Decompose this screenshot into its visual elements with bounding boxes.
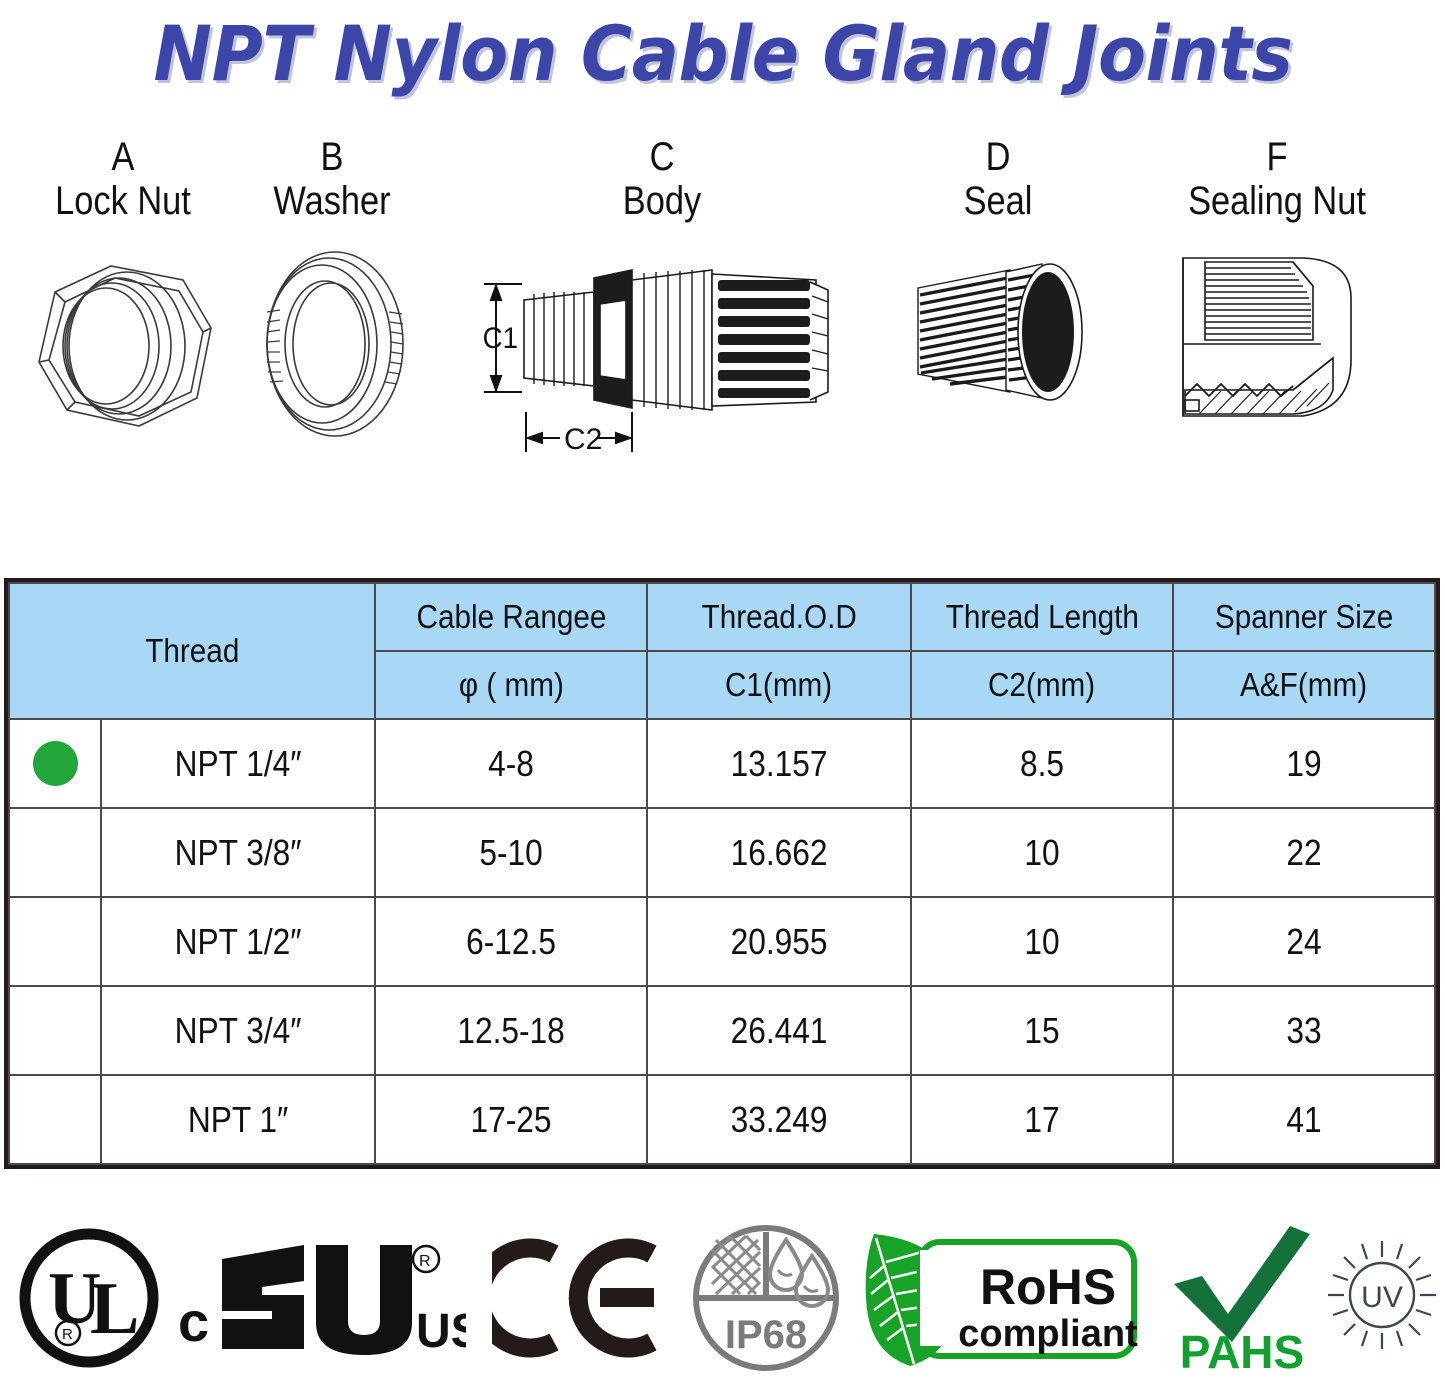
part-letter: F [1135,136,1419,178]
cell-spanner-size: 19 [1173,719,1435,808]
sealing-nut-drawing [1112,240,1442,440]
part-lock-nut: A Lock Nut [8,136,238,450]
cell-spanner-size: 24 [1173,897,1435,986]
column-subheader-phi-mm: φ ( mm) [375,651,647,719]
certification-uv-resistant: UV [1322,1218,1442,1378]
cell-cable-range: 5-10 [375,808,647,897]
cell-thread-length: 15 [911,986,1173,1075]
lock-nut-drawing [8,240,238,450]
svg-text:IP68: IP68 [725,1313,807,1357]
certification-ip68: IP68 [690,1218,842,1378]
svg-text:C1: C1 [483,322,518,355]
cell-thread-od: 33.249 [647,1075,911,1164]
seal-drawing [882,240,1114,440]
cell-spanner-size: 22 [1173,808,1435,897]
cell-thread-od: 20.955 [647,897,911,986]
cell-cable-range: 6-12.5 [375,897,647,986]
cell-thread-length: 10 [911,808,1173,897]
svg-text:UV: UV [1361,1281,1403,1314]
uv-resistant-icon: UV [1322,1233,1442,1363]
table-row[interactable]: NPT 1/2″ 6-12.5 20.955 10 24 [9,897,1435,986]
cell-cable-range: 4-8 [375,719,647,808]
cell-thread: NPT 1/4″ [101,719,375,808]
column-subheader-af-mm: A&F(mm) [1173,651,1435,719]
column-subheader-c1-mm: C1(mm) [647,651,911,719]
part-label: Body [481,178,842,224]
cell-cable-range: 12.5-18 [375,986,647,1075]
table-header-row-top: Thread Cable Rangee Thread.O.D Thread Le… [9,583,1435,651]
pahs-checkmark-icon: PAHS [1168,1222,1316,1374]
column-header-thread: Thread [9,583,375,719]
svg-text:R: R [419,1253,431,1270]
specification-table-container: Thread Cable Rangee Thread.O.D Thread Le… [8,582,1434,1165]
certification-rohs-compliant: RoHS compliant [862,1218,1152,1378]
cell-thread: NPT 1/2″ [101,897,375,986]
cell-spanner-size: 41 [1173,1075,1435,1164]
svg-text:US: US [416,1305,466,1358]
cell-thread: NPT 3/4″ [101,986,375,1075]
table-row[interactable]: NPT 3/8″ 5-10 16.662 10 22 [9,808,1435,897]
part-label: Lock Nut [24,178,222,224]
certification-c-ul-us: c R US [176,1218,466,1378]
column-header-cable-range: Cable Rangee [375,583,647,651]
table-row[interactable]: NPT 3/4″ 12.5-18 26.441 15 33 [9,986,1435,1075]
part-body: C Body C1 [452,136,872,466]
certification-badges: U L R c R US [0,1218,1445,1378]
svg-text:R: R [62,1326,73,1343]
part-seal: D Seal [882,136,1114,440]
part-label: Sealing Nut [1135,178,1419,224]
cell-thread-length: 17 [911,1075,1173,1164]
ul-listed-icon: U L R [14,1223,164,1373]
cell-thread-length: 10 [911,897,1173,986]
column-header-spanner-size: Spanner Size [1173,583,1435,651]
part-label: Seal [898,178,1098,224]
svg-text:PAHS: PAHS [1180,1326,1304,1374]
cell-thread: NPT 3/8″ [101,808,375,897]
part-sealing-nut: F Sealing Nut [1112,136,1442,440]
page-title: NPT Nylon Cable Gland Joints [153,16,1292,92]
table-row[interactable]: NPT 1/4″ 4-8 13.157 8.5 19 [9,719,1435,808]
row-selected-marker [9,719,101,808]
table-row[interactable]: NPT 1″ 17-25 33.249 17 41 [9,1075,1435,1164]
rohs-compliant-icon: RoHS compliant [862,1222,1152,1374]
certification-ul-listed: U L R [14,1218,164,1378]
part-letter: B [237,136,426,178]
row-selected-marker [9,1075,101,1164]
c-ul-us-icon: c R US [176,1223,466,1373]
cell-thread-od: 26.441 [647,986,911,1075]
page-header: NPT Nylon Cable Gland Joints [0,0,1445,108]
column-header-thread-length: Thread Length [911,583,1173,651]
ce-mark-icon [492,1228,672,1368]
cell-thread: NPT 1″ [101,1075,375,1164]
part-letter: A [24,136,222,178]
specification-table: Thread Cable Rangee Thread.O.D Thread Le… [8,582,1436,1165]
part-label: Washer [237,178,426,224]
part-letter: C [481,136,842,178]
cell-thread-length: 8.5 [911,719,1173,808]
row-selected-marker [9,808,101,897]
cell-cable-range: 17-25 [375,1075,647,1164]
certification-ce-mark [492,1218,672,1378]
svg-text:C2: C2 [564,423,602,456]
washer-drawing [222,240,442,450]
svg-text:c: c [178,1290,209,1353]
row-selected-marker [9,986,101,1075]
svg-text:RoHS: RoHS [980,1259,1116,1315]
part-washer: B Washer [222,136,442,450]
cell-spanner-size: 33 [1173,986,1435,1075]
certification-pahs: PAHS [1168,1218,1316,1378]
row-selected-marker [9,897,101,986]
cell-thread-od: 13.157 [647,719,911,808]
svg-text:compliant: compliant [958,1313,1138,1355]
svg-text:L: L [90,1268,139,1350]
cell-thread-od: 16.662 [647,808,911,897]
gland-body-drawing: C1 [452,240,872,466]
ip68-rating-icon: IP68 [690,1222,842,1374]
column-subheader-c2-mm: C2(mm) [911,651,1173,719]
part-letter: D [898,136,1098,178]
green-dot-icon [33,741,78,786]
parts-diagram: A Lock Nut B Washer [0,118,1445,548]
column-header-thread-od: Thread.O.D [647,583,911,651]
